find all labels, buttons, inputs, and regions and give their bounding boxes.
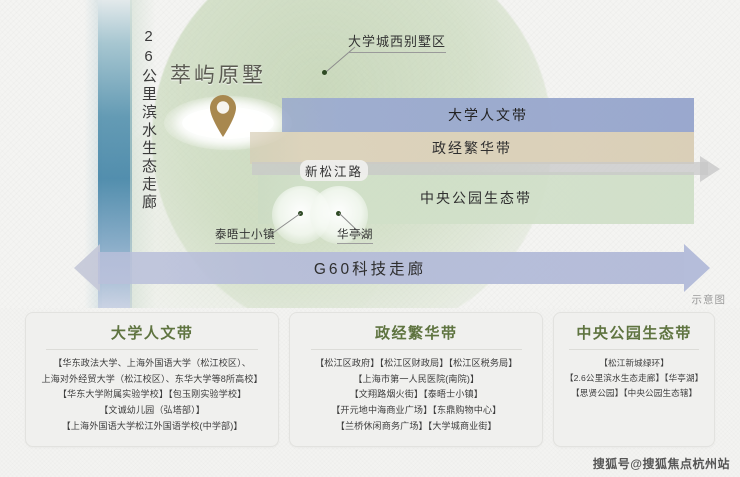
schematic-note: 示意图	[692, 292, 727, 307]
card-line: 【松江区政府】【松江区财政局】【松江区税务局】	[296, 356, 536, 372]
card-content-park: 【松江新城绿环】 【2.6公里滨水生态走廊】【华亭湖】 【思贤公园】【中央公园生…	[560, 356, 708, 400]
card-divider	[46, 349, 257, 350]
card-university-humanities: 大学人文带 【华东政法大学、上海外国语大学（松江校区）、 上海对外经贸大学（松江…	[25, 312, 279, 447]
card-line: 【思贤公园】【中央公园生态辖】	[560, 386, 708, 401]
card-content-university: 【华东政法大学、上海外国语大学（松江校区）、 上海对外经贸大学（松江校区）、东华…	[32, 356, 272, 434]
band-label-park: 中央公园生态带	[420, 188, 532, 208]
card-government-economy: 政经繁华带 【松江区政府】【松江区财政局】【松江区税务局】 【上海市第一人民医院…	[289, 312, 543, 447]
card-title-economy: 政经繁华带	[375, 322, 458, 343]
map-pin-icon	[206, 93, 240, 139]
card-line: 【兰桥休闲商务广场】【大学城商业街】	[296, 419, 536, 435]
band-label-university: 大学人文带	[448, 105, 528, 125]
road-label-xinsongjiang: 新松江路	[300, 160, 368, 181]
card-title-park: 中央公园生态带	[576, 322, 692, 343]
card-line: 【上海市第一人民医院(南院)】	[296, 372, 536, 388]
schematic-map: 26公里滨水生态走廊 萃屿原墅 大学城西别墅区 大学人文带 政经繁华带 中央公园…	[0, 0, 740, 308]
road-arrow-icon	[700, 156, 720, 182]
card-line: 【文诚幼儿园（弘塔部）】	[32, 403, 272, 419]
watermark-label: 搜狐号@搜狐焦点杭州站	[593, 455, 730, 472]
card-line: 【华东大学附属实验学校】【包玉刚实验学校】	[32, 387, 272, 403]
annotation-thames-town: 泰晤士小镇	[215, 226, 275, 244]
card-line: 上海对外经贸大学（松江校区）、东华大学等8所高校】	[32, 372, 272, 388]
project-name-label: 萃屿原墅	[170, 59, 266, 89]
card-line: 【上海外国语大学松江外国语学校(中学部)】	[32, 419, 272, 435]
card-line: 【松江新城绿环】	[560, 356, 708, 371]
card-line: 【华东政法大学、上海外国语大学（松江校区）、	[32, 356, 272, 372]
annotation-villa-district: 大学城西别墅区	[348, 31, 446, 53]
screenshot-root: 26公里滨水生态走廊 萃屿原墅 大学城西别墅区 大学人文带 政经繁华带 中央公园…	[0, 0, 740, 477]
card-central-park-ecology: 中央公园生态带 【松江新城绿环】 【2.6公里滨水生态走廊】【华亭湖】 【思贤公…	[553, 312, 715, 447]
annotation-huating-lake: 华亭湖	[337, 226, 373, 244]
g60-corridor-label: G60科技走廊	[0, 252, 740, 284]
band-label-economy: 政经繁华带	[432, 138, 512, 158]
card-line: 【文翔路烟火街】【泰晤士小镇】	[296, 387, 536, 403]
annotation-dot-villa	[322, 70, 327, 75]
legend-cards: 大学人文带 【华东政法大学、上海外国语大学（松江校区）、 上海对外经贸大学（松江…	[0, 312, 740, 447]
card-divider	[569, 349, 699, 350]
card-divider	[311, 349, 522, 350]
card-line: 【2.6公里滨水生态走廊】【华亭湖】	[560, 371, 708, 386]
band-university-humanities: 大学人文带	[282, 98, 694, 132]
card-title-university: 大学人文带	[111, 322, 194, 343]
card-content-economy: 【松江区政府】【松江区财政局】【松江区税务局】 【上海市第一人民医院(南院)】 …	[296, 356, 536, 434]
card-line: 【开元地中海商业广场】【东鼎购物中心】	[296, 403, 536, 419]
waterfront-corridor-label: 26公里滨水生态走廊	[130, 28, 156, 212]
